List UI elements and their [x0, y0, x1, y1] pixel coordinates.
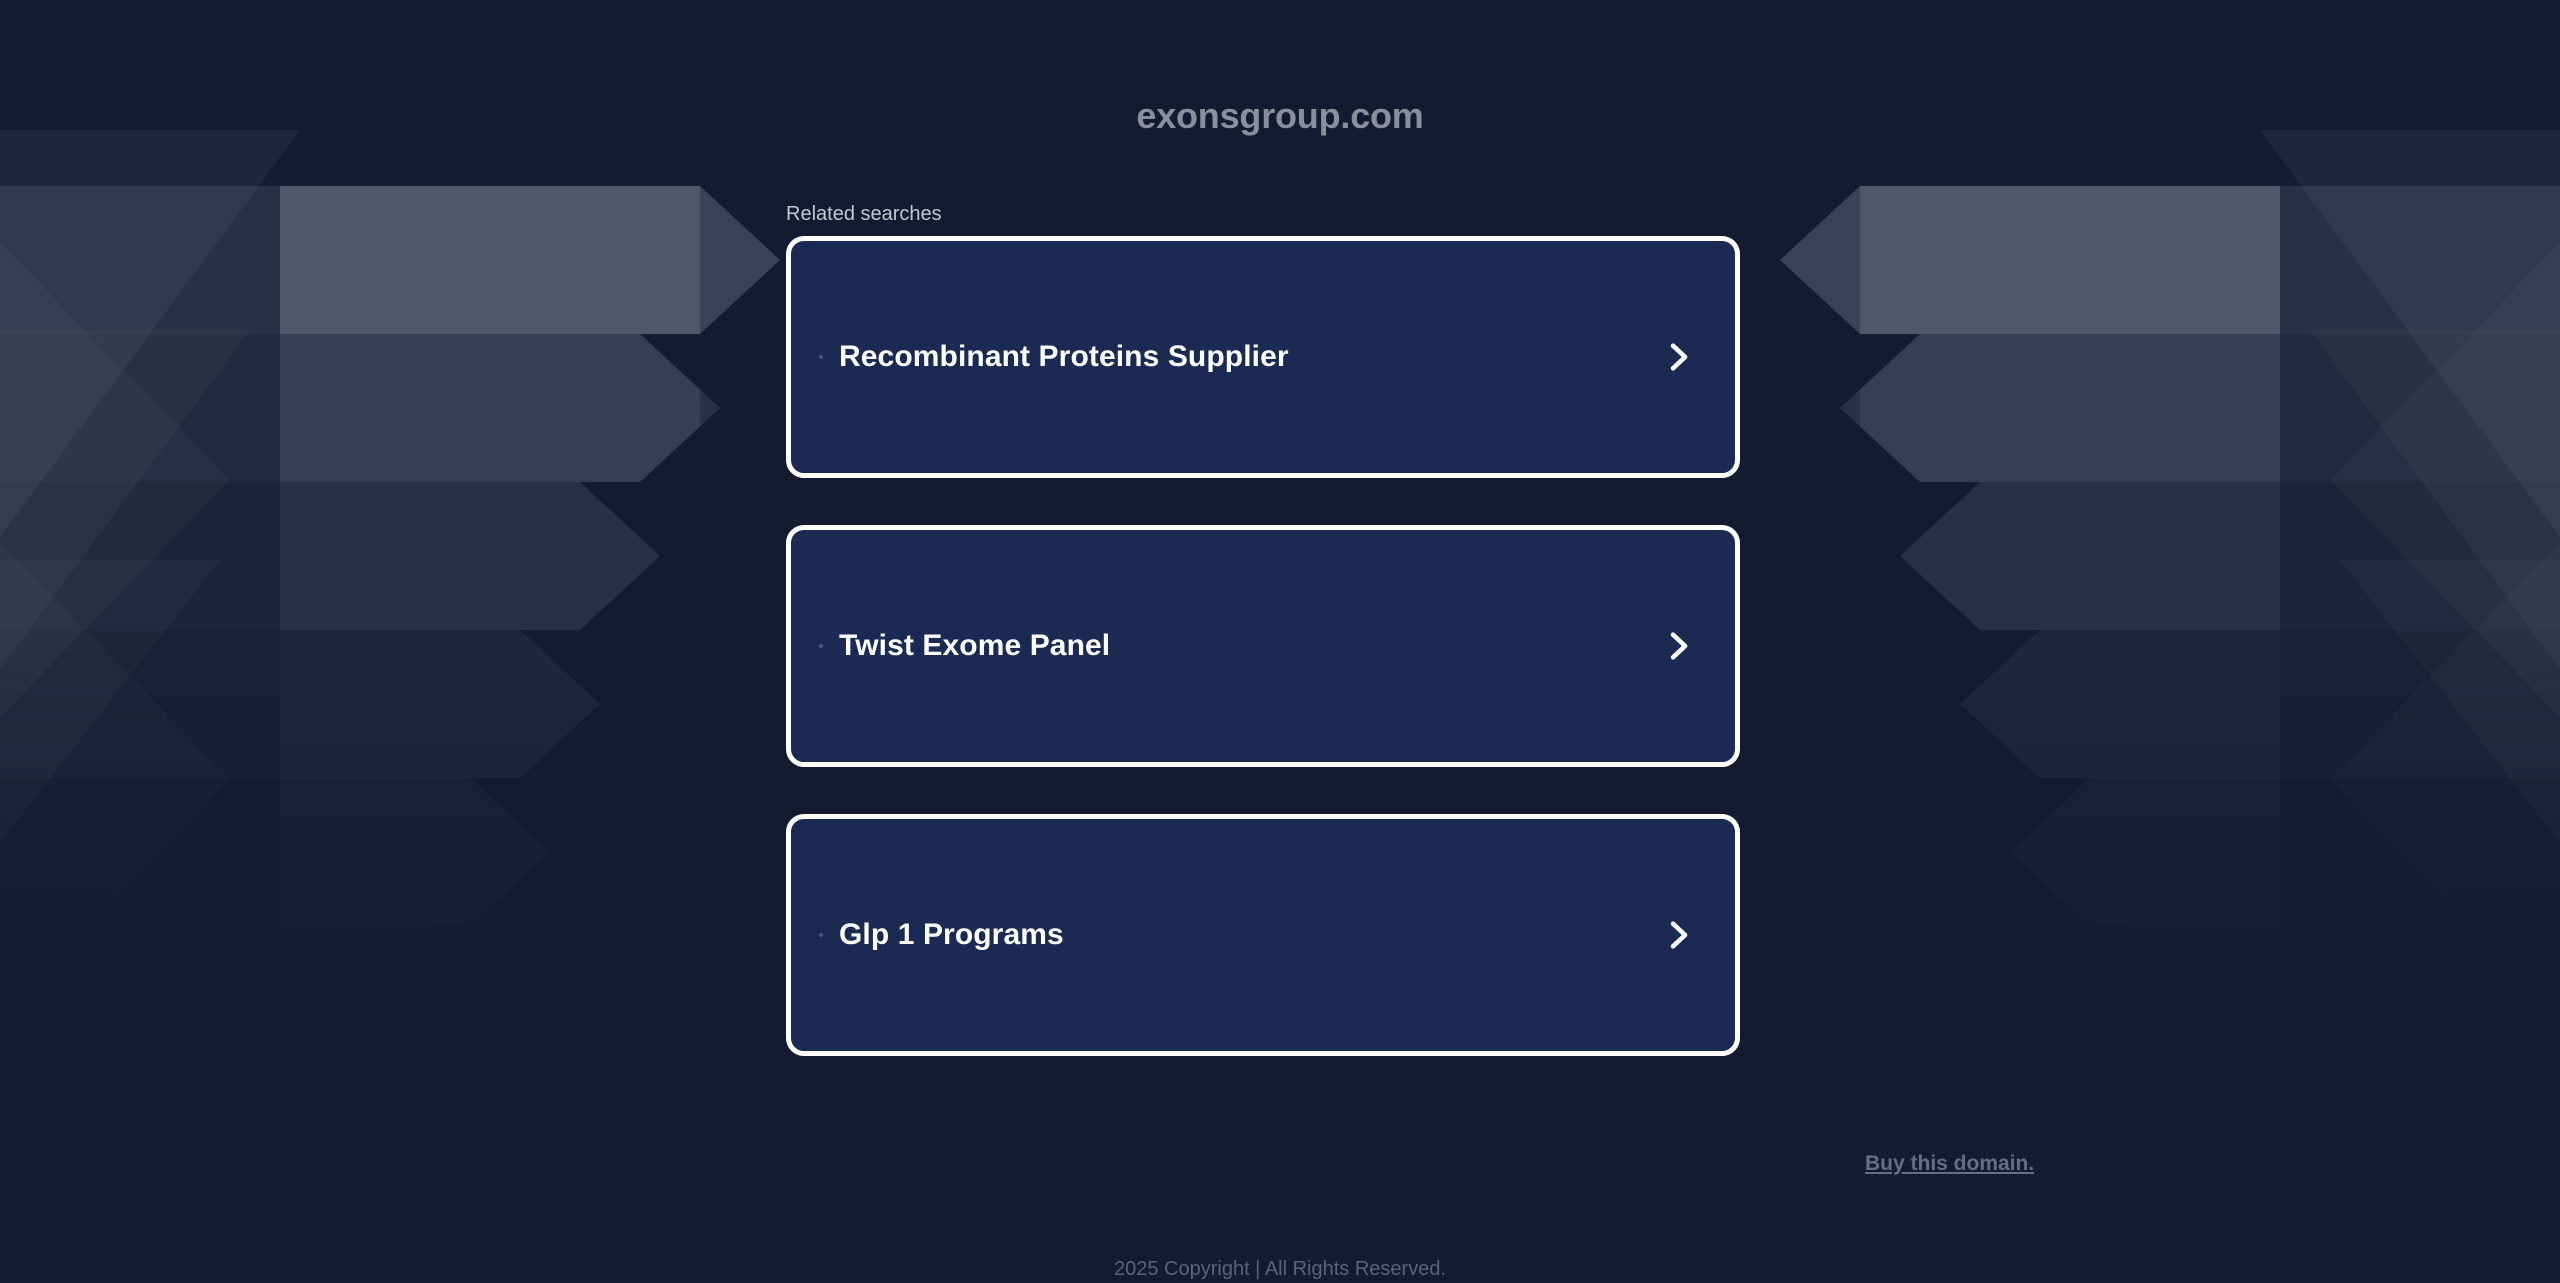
buy-this-domain-link[interactable]: Buy this domain. — [1865, 1152, 2034, 1176]
chevron-right-icon — [1661, 629, 1695, 663]
copyright-notice: 2025 Copyright | All Rights Reserved. — [0, 1258, 2560, 1281]
related-search-label: Glp 1 Programs — [839, 918, 1064, 952]
bullet-marker — [819, 355, 823, 359]
related-searches-heading: Related searches — [786, 203, 942, 226]
chevron-right-icon — [1661, 918, 1695, 952]
chevron-right-icon — [1661, 340, 1695, 374]
related-search-card-1[interactable]: Recombinant Proteins Supplier — [786, 236, 1740, 478]
related-search-card-3[interactable]: Glp 1 Programs — [786, 814, 1740, 1056]
related-searches-list: Recombinant Proteins Supplier Twist Exom… — [786, 236, 1740, 1103]
bullet-marker — [819, 644, 823, 648]
related-search-label: Twist Exome Panel — [839, 629, 1110, 663]
page-title: exonsgroup.com — [0, 95, 2560, 137]
bullet-marker — [819, 933, 823, 937]
related-search-card-2[interactable]: Twist Exome Panel — [786, 525, 1740, 767]
related-search-label: Recombinant Proteins Supplier — [839, 340, 1289, 374]
parked-domain-page: exonsgroup.com Related searches Recombin… — [0, 0, 2560, 1283]
